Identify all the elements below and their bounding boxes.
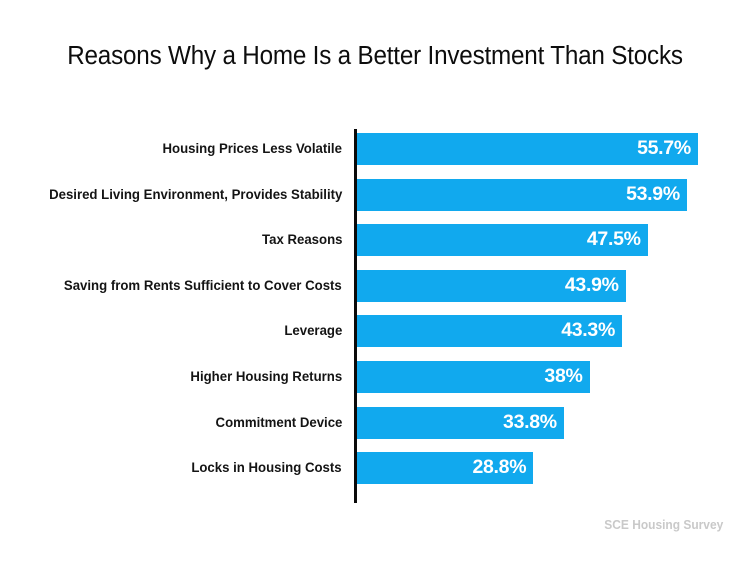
- category-label: Housing Prices Less Volatile: [163, 133, 342, 165]
- bar-wrapper: 55.7%: [357, 133, 698, 165]
- chart-container: Reasons Why a Home Is a Better Investmen…: [0, 0, 750, 563]
- category-label: Leverage: [284, 315, 342, 347]
- category-label: Locks in Housing Costs: [192, 452, 342, 484]
- bar[interactable]: 33.8%: [357, 407, 564, 439]
- bar[interactable]: 47.5%: [357, 224, 648, 256]
- bar-wrapper: 43.9%: [357, 270, 626, 302]
- category-label: Tax Reasons: [262, 224, 342, 256]
- bar-value-label: 53.9%: [626, 179, 680, 211]
- bar-value-label: 55.7%: [637, 133, 691, 165]
- bar-value-label: 43.9%: [565, 270, 619, 302]
- bar-row: Tax Reasons47.5%: [0, 224, 750, 270]
- bar-wrapper: 38%: [357, 361, 590, 393]
- category-label: Saving from Rents Sufficient to Cover Co…: [64, 270, 342, 302]
- bar-wrapper: 33.8%: [357, 407, 564, 439]
- source-note: SCE Housing Survey: [604, 518, 723, 532]
- bar[interactable]: 43.9%: [357, 270, 626, 302]
- bar-value-label: 38%: [544, 361, 582, 393]
- category-label: Higher Housing Returns: [190, 361, 342, 393]
- bar[interactable]: 55.7%: [357, 133, 698, 165]
- bar[interactable]: 38%: [357, 361, 590, 393]
- bar-value-label: 28.8%: [472, 452, 526, 484]
- bar[interactable]: 43.3%: [357, 315, 622, 347]
- bar-wrapper: 28.8%: [357, 452, 533, 484]
- bar-row: Commitment Device33.8%: [0, 407, 750, 453]
- category-label: Desired Living Environment, Provides Sta…: [49, 179, 342, 211]
- bar[interactable]: 53.9%: [357, 179, 687, 211]
- category-axis-line: [354, 129, 357, 503]
- bar-row: Locks in Housing Costs28.8%: [0, 452, 750, 498]
- bar-wrapper: 43.3%: [357, 315, 622, 347]
- bar-row: Housing Prices Less Volatile55.7%: [0, 133, 750, 179]
- bar-wrapper: 53.9%: [357, 179, 687, 211]
- category-label: Commitment Device: [215, 407, 342, 439]
- bar-value-label: 33.8%: [503, 407, 557, 439]
- plot-area: Housing Prices Less Volatile55.7%Desired…: [0, 128, 750, 504]
- bar-row: Saving from Rents Sufficient to Cover Co…: [0, 270, 750, 316]
- bar-row: Desired Living Environment, Provides Sta…: [0, 179, 750, 225]
- bar-wrapper: 47.5%: [357, 224, 648, 256]
- bar-value-label: 43.3%: [561, 315, 615, 347]
- bar-row: Higher Housing Returns38%: [0, 361, 750, 407]
- chart-title: Reasons Why a Home Is a Better Investmen…: [19, 42, 732, 71]
- bar-value-label: 47.5%: [587, 224, 641, 256]
- bar[interactable]: 28.8%: [357, 452, 533, 484]
- bar-row: Leverage43.3%: [0, 315, 750, 361]
